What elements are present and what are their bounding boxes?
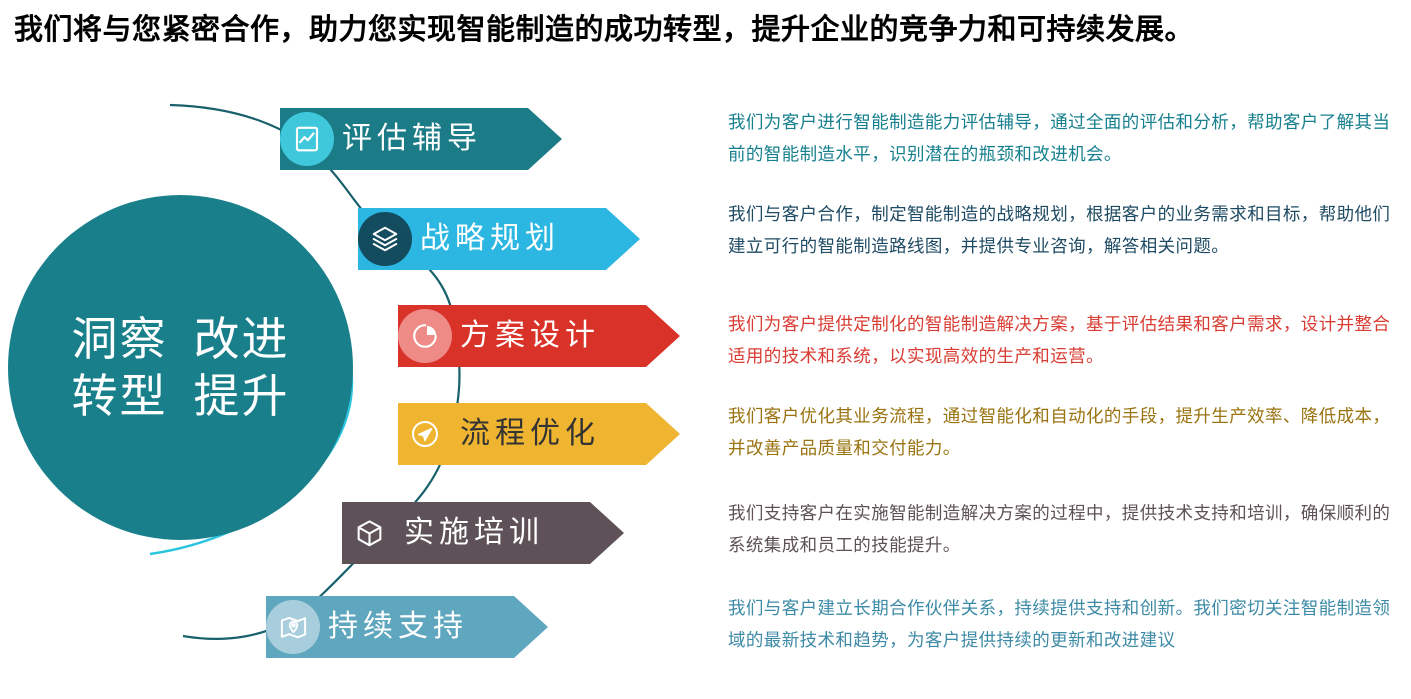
description-column: 我们为客户进行智能制造能力评估辅导，通过全面的评估和分析，帮助客户了解其当前的智… [728, 0, 1411, 699]
document-chart-icon [292, 124, 322, 154]
description-6: 我们与客户建立长期合作伙伴关系，持续提供支持和创新。我们密切关注智能制造领域的最… [728, 592, 1408, 656]
description-1: 我们为客户进行智能制造能力评估辅导，通过全面的评估和分析，帮助客户了解其当前的智… [728, 106, 1408, 170]
hub-word-upgrade: 提升 [194, 370, 290, 422]
step-badge-4[interactable] [398, 407, 452, 461]
layers-icon [370, 224, 400, 254]
description-5: 我们支持客户在实施智能制造解决方案的过程中，提供技术支持和培训，确保顺利的系统集… [728, 497, 1408, 561]
hub-circle: 洞察改进 转型提升 [8, 195, 353, 540]
hub-line-2: 转型提升 [72, 368, 290, 424]
step-label-5: 实施培训 [404, 518, 544, 548]
hub-word-transform: 转型 [72, 370, 168, 422]
hub-line-1: 洞察改进 [72, 311, 290, 367]
step-label-3: 方案设计 [460, 321, 600, 351]
cube-icon [354, 518, 385, 549]
step-badge-5[interactable] [342, 506, 396, 560]
step-badge-3[interactable] [398, 309, 452, 363]
hub-word-insight: 洞察 [72, 313, 168, 365]
hub-word-improve: 改进 [194, 313, 290, 365]
description-4: 我们客户优化其业务流程，通过智能化和自动化的手段，提升生产效率、降低成本，并改善… [728, 400, 1408, 464]
description-2: 我们与客户合作，制定智能制造的战略规划，根据客户的业务需求和目标，帮助他们建立可… [728, 198, 1408, 262]
description-3: 我们为客户提供定制化的智能制造解决方案，基于评估结果和客户需求，设计并整合适用的… [728, 308, 1408, 372]
step-label-6: 持续支持 [328, 612, 468, 642]
map-pin-icon [278, 612, 309, 643]
step-badge-6[interactable] [266, 600, 320, 654]
step-label-1: 评估辅导 [342, 124, 482, 154]
pie-chart-icon [410, 321, 440, 351]
process-diagram: 洞察改进 转型提升 评估辅导 战略规划 [0, 60, 710, 699]
step-label-4: 流程优化 [460, 419, 600, 449]
paper-plane-icon [409, 418, 441, 450]
step-badge-2[interactable] [358, 212, 412, 266]
step-badge-1[interactable] [280, 112, 334, 166]
step-label-2: 战略规划 [420, 224, 560, 254]
